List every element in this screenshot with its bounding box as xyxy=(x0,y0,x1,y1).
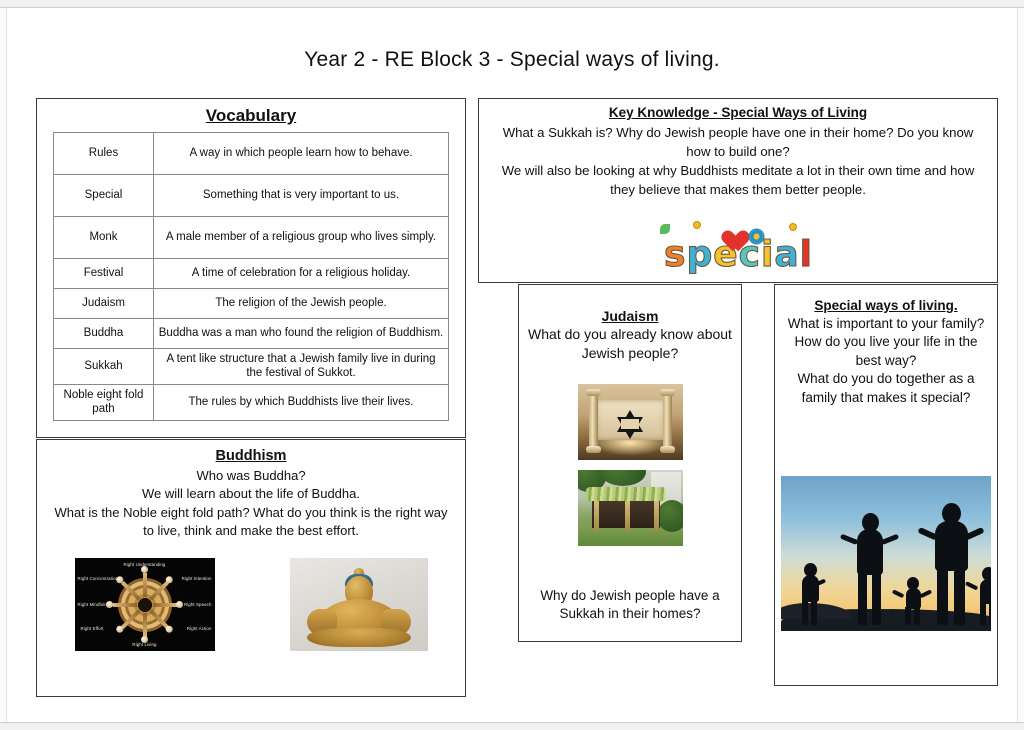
vocabulary-table: Rules A way in which people learn how to… xyxy=(53,132,449,421)
wheel-label-right-living: Right Living xyxy=(132,642,156,647)
sukkah-image xyxy=(578,470,683,546)
dharma-wheel-image: Right Understanding Right Intention Righ… xyxy=(75,558,215,651)
word-art-letter: i xyxy=(761,238,773,272)
wheel-label-right-understanding: Right Understanding xyxy=(124,562,166,567)
child-silhouette-right xyxy=(977,567,991,625)
buddhism-line-1: Who was Buddha? xyxy=(51,467,451,485)
key-knowledge-line-1: What a Sukkah is? Why do Jewish people h… xyxy=(489,123,987,161)
vocab-term: Festival xyxy=(54,259,154,289)
wheel-label-right-speech: Right Speech xyxy=(184,602,212,607)
torah-scroll-image xyxy=(578,384,683,460)
page-edge-right xyxy=(1017,8,1024,722)
judaism-heading: Judaism xyxy=(519,308,741,324)
key-knowledge-line-2: We will also be looking at why Buddhists… xyxy=(489,161,987,199)
wheel-label-right-concentration: Right Concentration xyxy=(78,576,119,581)
special-ways-question-3: What do you do together as a family that… xyxy=(785,370,987,407)
table-row: Monk A male member of a religious group … xyxy=(54,217,449,259)
page-edge-left xyxy=(0,8,7,722)
vocabulary-panel: Vocabulary Rules A way in which people l… xyxy=(36,98,466,438)
special-ways-question-1: What is important to your family? xyxy=(785,315,987,333)
page-edge-bottom xyxy=(0,722,1024,730)
judaism-images xyxy=(519,384,741,546)
special-ways-text: What is important to your family? How do… xyxy=(785,315,987,407)
vocab-term: Buddha xyxy=(54,319,154,349)
vocab-term: Judaism xyxy=(54,289,154,319)
document-page: Year 2 - RE Block 3 - Special ways of li… xyxy=(0,0,1024,730)
vocab-definition: Buddha was a man who found the religion … xyxy=(154,319,449,349)
torah-rod-left xyxy=(589,392,598,448)
torah-cap-bottom-right xyxy=(660,446,675,453)
table-row: Buddha Buddha was a man who found the re… xyxy=(54,319,449,349)
buddhism-heading: Buddhism xyxy=(37,448,465,464)
vocab-term: Sukkah xyxy=(54,349,154,385)
vocab-term: Rules xyxy=(54,133,154,175)
adult-silhouette-father xyxy=(931,503,971,625)
vocab-definition: The religion of the Jewish people. xyxy=(154,289,449,319)
buddhism-images: Right Understanding Right Intention Righ… xyxy=(37,558,465,651)
judaism-panel: Judaism What do you already know about J… xyxy=(518,284,742,642)
buddhism-panel: Buddhism Who was Buddha? We will learn a… xyxy=(36,439,466,697)
heart-icon xyxy=(716,222,742,246)
special-word-art: s p e c i a l xyxy=(479,218,997,272)
torah-cap-top-left xyxy=(586,389,601,396)
key-knowledge-text: What a Sukkah is? Why do Jewish people h… xyxy=(489,123,987,200)
vocab-definition: A male member of a religious group who l… xyxy=(154,217,449,259)
sukkah-post xyxy=(625,498,630,532)
family-silhouette-image xyxy=(781,476,991,631)
vocab-term: Noble eight fold path xyxy=(54,384,154,420)
table-row: Judaism The religion of the Jewish peopl… xyxy=(54,289,449,319)
sukkah-leafy-roof xyxy=(586,487,666,501)
special-ways-heading: Special ways of living. xyxy=(775,298,997,313)
wheel-label-right-effort: Right Effort xyxy=(81,626,104,631)
adult-silhouette-mother xyxy=(853,513,887,625)
child-silhouette-left xyxy=(797,563,823,625)
vocab-definition: Something that is very important to us. xyxy=(154,175,449,217)
family-image-wrapper xyxy=(775,476,997,631)
torah-rod-right xyxy=(663,392,672,448)
table-row: Rules A way in which people learn how to… xyxy=(54,133,449,175)
page-title: Year 2 - RE Block 3 - Special ways of li… xyxy=(0,48,1024,72)
wheel-label-right-mindfulness: Right Mindfulness xyxy=(78,602,115,607)
key-knowledge-heading: Key Knowledge - Special Ways of Living xyxy=(479,105,997,120)
special-ways-question-2: How do you live your life in the best wa… xyxy=(785,333,987,370)
judaism-question: What do you already know about Jewish pe… xyxy=(527,325,733,363)
buddhism-line-3: What is the Noble eight fold path? What … xyxy=(51,504,451,541)
leaf-decoration-icon xyxy=(660,224,670,234)
buddha-lap xyxy=(307,628,411,647)
vocab-definition: A time of celebration for a religious ho… xyxy=(154,259,449,289)
word-art-letter: p xyxy=(686,238,712,272)
flower-icon xyxy=(750,230,763,243)
wheel-label-right-intention: Right Intention xyxy=(182,576,212,581)
word-art-letter: a xyxy=(774,238,798,272)
table-row: Noble eight fold path The rules by which… xyxy=(54,384,449,420)
word-art-letter: s xyxy=(664,238,685,272)
bush xyxy=(657,500,683,532)
page-edge-top xyxy=(0,0,1024,8)
sukkah-post xyxy=(654,498,659,532)
wheel-label-right-action: Right Action xyxy=(187,626,212,631)
buddhism-text: Who was Buddha? We will learn about the … xyxy=(51,467,451,541)
vocab-term: Special xyxy=(54,175,154,217)
table-row: Sukkah A tent like structure that a Jewi… xyxy=(54,349,449,385)
table-row: Special Something that is very important… xyxy=(54,175,449,217)
special-ways-panel: Special ways of living. What is importan… xyxy=(774,284,998,686)
judaism-footer-question: Why do Jewish people have a Sukkah in th… xyxy=(527,587,733,623)
sukkah-post xyxy=(594,498,599,532)
vocab-term: Monk xyxy=(54,217,154,259)
dot-decoration-icon xyxy=(694,222,700,228)
buddha-statue-image xyxy=(290,558,428,651)
word-art-letter: l xyxy=(800,238,812,272)
table-row: Festival A time of celebration for a rel… xyxy=(54,259,449,289)
vocabulary-heading: Vocabulary xyxy=(37,106,465,126)
bush xyxy=(600,470,646,486)
dot-decoration-icon xyxy=(790,224,796,230)
torah-cap-bottom-left xyxy=(586,446,601,453)
buddhism-line-2: We will learn about the life of Buddha. xyxy=(51,485,451,503)
vocab-definition: A way in which people learn how to behav… xyxy=(154,133,449,175)
key-knowledge-panel: Key Knowledge - Special Ways of Living W… xyxy=(478,98,998,283)
vocab-definition: A tent like structure that a Jewish fami… xyxy=(154,349,449,385)
vocab-definition: The rules by which Buddhists live their … xyxy=(154,384,449,420)
child-silhouette-toddler xyxy=(901,577,925,625)
torah-cap-top-right xyxy=(660,389,675,396)
